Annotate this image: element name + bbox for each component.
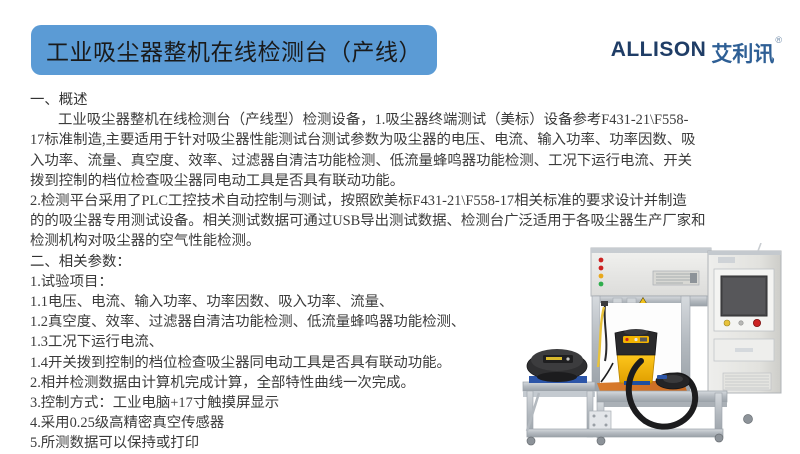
page-title-banner: 工业吸尘器整机在线检测台（产线） bbox=[31, 25, 437, 75]
body-line-6: 的的吸尘器专用测试设备。相关测试数据可通过USB导出测试数据、检测台广泛适用于各… bbox=[30, 211, 800, 231]
left-platform-rail bbox=[523, 391, 595, 397]
control-cabinet bbox=[708, 243, 781, 393]
body-line-4: 拨到控制的档位检查吸尘器同电动工具是否具有联动功能。 bbox=[30, 171, 800, 191]
test-chamber-hood bbox=[591, 248, 711, 296]
bench-bottom-rail bbox=[527, 429, 723, 437]
indicator-lamp-amber bbox=[599, 274, 604, 279]
frame-connector-plate bbox=[589, 411, 611, 429]
slide-root: 工业吸尘器整机在线检测台（产线） ALLISON 艾利讯 ® 一、概述 工业吸尘… bbox=[0, 0, 800, 450]
vacuum-yellow-handle bbox=[624, 329, 648, 335]
cabinet-button-yellow[interactable] bbox=[724, 320, 730, 326]
section-heading-overview: 一、概述 bbox=[30, 90, 800, 110]
body-line-1: 工业吸尘器整机在线检测台（产线型）检测设备，1.吸尘器终端测试（美标）设备参考F… bbox=[30, 110, 800, 130]
brand-logo-cn: 艾利讯 bbox=[711, 38, 774, 68]
caster-2 bbox=[597, 437, 605, 445]
cabinet-drawer-handle[interactable] bbox=[735, 348, 753, 352]
brand-logo: ALLISON 艾利讯 ® bbox=[611, 38, 782, 68]
touchscreen-display-area[interactable] bbox=[723, 278, 765, 314]
emergency-stop-button[interactable] bbox=[753, 319, 760, 326]
cabinet-button-grey[interactable] bbox=[739, 321, 743, 325]
indicator-lamp-red-1 bbox=[599, 258, 604, 263]
product-photo-illustration bbox=[505, 243, 795, 448]
caster-3 bbox=[715, 434, 723, 442]
accessory-connector bbox=[657, 375, 667, 379]
caster-4 bbox=[744, 415, 753, 424]
product-photo bbox=[505, 243, 795, 448]
vacuum-black-base bbox=[537, 372, 577, 382]
body-line-5: 2.检测平台采用了PLC工控技术自动控制与测试，按照欧美标F431-21\F55… bbox=[30, 191, 800, 211]
cabinet-base-vent bbox=[723, 373, 771, 390]
left-platform-top bbox=[523, 382, 595, 391]
brand-logo-en: ALLISON bbox=[611, 38, 707, 62]
indicator-lamp-green bbox=[599, 282, 604, 287]
cable-socket bbox=[601, 301, 608, 306]
caster-1 bbox=[527, 437, 535, 445]
body-line-3: 入功率、流量、真空度、效率、过滤器自清洁功能检测、低流量蜂鸣器功能检测、工况下运… bbox=[30, 151, 800, 171]
bench-front-rail bbox=[597, 391, 727, 402]
registered-trademark-icon: ® bbox=[775, 35, 782, 45]
vacuum-cleaner-yellow bbox=[615, 329, 657, 385]
body-line-2: 17标准制造,主要适用于针对吸尘器性能测试台测试参数为吸尘器的电压、电流、输入功… bbox=[30, 130, 800, 150]
cabinet-nameplate bbox=[718, 257, 735, 263]
page-title: 工业吸尘器整机在线检测台（产线） bbox=[46, 33, 422, 67]
indicator-lamp-red-2 bbox=[599, 266, 604, 271]
